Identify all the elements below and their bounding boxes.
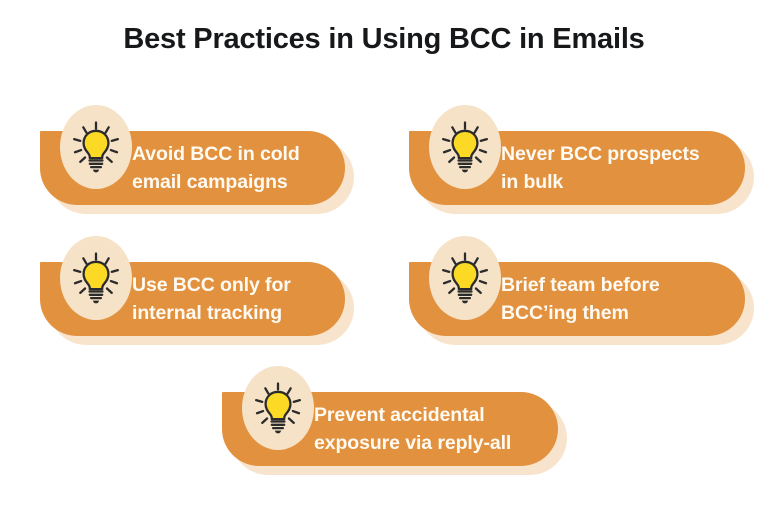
card-label: Avoid BCC in cold email campaigns <box>132 131 331 205</box>
lightbulb-icon <box>60 236 132 320</box>
infographic-canvas: Best Practices in Using BCC in Emails <box>0 0 768 531</box>
practice-card-brief-team-before-bccing: Brief team before BCC’ing them <box>409 262 745 336</box>
page-title: Best Practices in Using BCC in Emails <box>0 22 768 57</box>
lightbulb-icon <box>242 366 314 450</box>
practice-card-avoid-bcc-cold-email: Avoid BCC in cold email campaigns <box>40 131 345 205</box>
card-label: Brief team before BCC’ing them <box>501 262 731 336</box>
card-label: Use BCC only for internal tracking <box>132 262 331 336</box>
practice-card-prevent-accidental-exposure: Prevent accidental exposure via reply-al… <box>222 392 558 466</box>
lightbulb-icon <box>429 236 501 320</box>
lightbulb-icon <box>60 105 132 189</box>
practice-card-never-bcc-prospects-bulk: Never BCC prospects in bulk <box>409 131 745 205</box>
card-label: Never BCC prospects in bulk <box>501 131 731 205</box>
practice-card-use-bcc-internal-tracking: Use BCC only for internal tracking <box>40 262 345 336</box>
card-label: Prevent accidental exposure via reply-al… <box>314 392 544 466</box>
lightbulb-icon <box>429 105 501 189</box>
